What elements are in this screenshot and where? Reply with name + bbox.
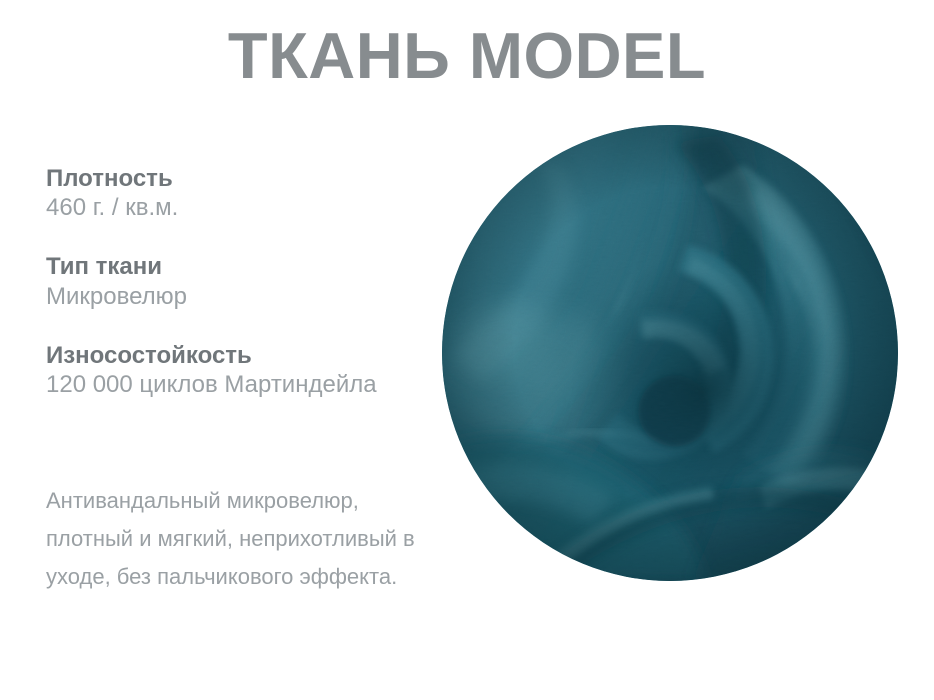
spec-value: 120 000 циклов Мартиндейла [46, 370, 446, 400]
specification-list: Плотность 460 г. / кв.м. Тип ткани Микро… [46, 165, 446, 430]
spec-label: Плотность [46, 165, 446, 193]
spec-item-fabric-type: Тип ткани Микровелюр [46, 253, 446, 311]
fabric-description: Антивандальный микровелюр, плотный и мяг… [46, 482, 446, 595]
spec-label: Износостойкость [46, 342, 446, 370]
spec-item-durability: Износостойкость 120 000 циклов Мартиндей… [46, 342, 446, 400]
spec-value: Микровелюр [46, 282, 446, 312]
page-title: ТКАНЬ MODEL [0, 22, 934, 90]
fabric-spec-slide: ТКАНЬ MODEL Плотность 460 г. / кв.м. Тип… [0, 0, 934, 700]
spec-value: 460 г. / кв.м. [46, 193, 446, 223]
spec-label: Тип ткани [46, 253, 446, 281]
fabric-swatch-circle [442, 125, 898, 581]
spec-item-density: Плотность 460 г. / кв.м. [46, 165, 446, 223]
